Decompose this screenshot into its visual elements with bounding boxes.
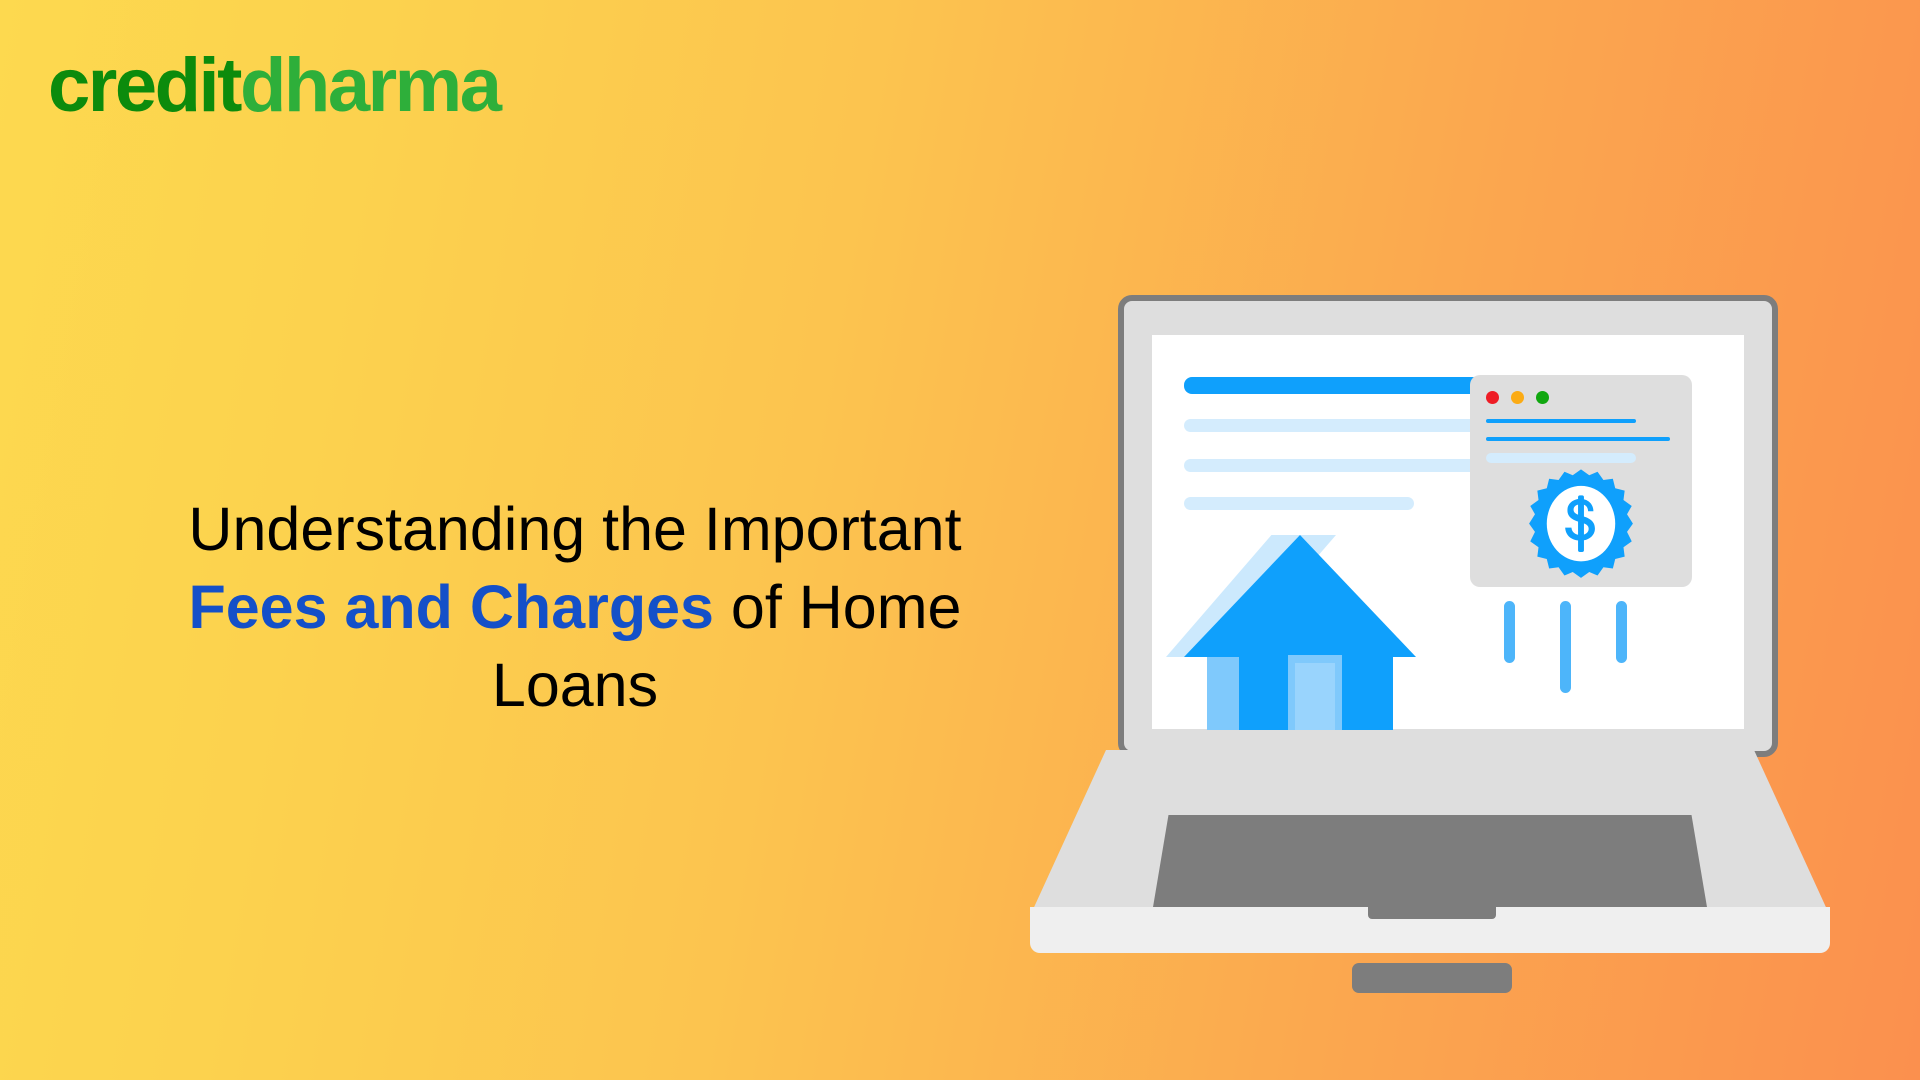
screen-text-line-1	[1184, 419, 1480, 432]
dollar-gear-icon	[1522, 467, 1640, 585]
laptop-screen	[1152, 335, 1744, 729]
laptop-lid	[1118, 295, 1778, 757]
headline-line-2: Fees and Charges of Home	[100, 568, 1050, 646]
falling-bar-3	[1616, 601, 1627, 663]
laptop-trackpad	[1352, 963, 1512, 993]
page-title: Understanding the Important Fees and Cha…	[100, 490, 1050, 724]
house-door	[1295, 663, 1335, 730]
falling-bar-1	[1504, 601, 1515, 663]
minimize-dot-icon	[1511, 391, 1524, 404]
laptop-front-notch	[1368, 907, 1496, 919]
headline-line-1: Understanding the Important	[100, 490, 1050, 568]
logo-text-dharma: dharma	[240, 43, 500, 128]
panel-line-2	[1486, 437, 1670, 441]
falling-bar-2	[1560, 601, 1571, 693]
browser-card-panel	[1470, 375, 1692, 587]
screen-content	[1152, 335, 1744, 729]
screen-text-line-2	[1184, 459, 1480, 472]
headline-line-3: Loans	[100, 646, 1050, 724]
headline-line-2-rest: of Home	[714, 573, 962, 641]
screen-text-line-3	[1184, 497, 1414, 510]
house-side-wall-cap	[1207, 652, 1239, 657]
headline-accent-text: Fees and Charges	[189, 573, 714, 641]
panel-line-1	[1486, 419, 1636, 423]
laptop-illustration	[1030, 295, 1830, 950]
logo-text-credit: credit	[48, 43, 240, 128]
close-dot-icon	[1486, 391, 1499, 404]
screen-heading-line	[1184, 377, 1480, 394]
panel-line-3	[1486, 453, 1636, 463]
brand-logo[interactable]: creditdharma	[48, 48, 500, 124]
window-controls	[1486, 391, 1549, 404]
maximize-dot-icon	[1536, 391, 1549, 404]
house-side-wall	[1207, 652, 1239, 730]
house-icon	[1166, 535, 1416, 730]
